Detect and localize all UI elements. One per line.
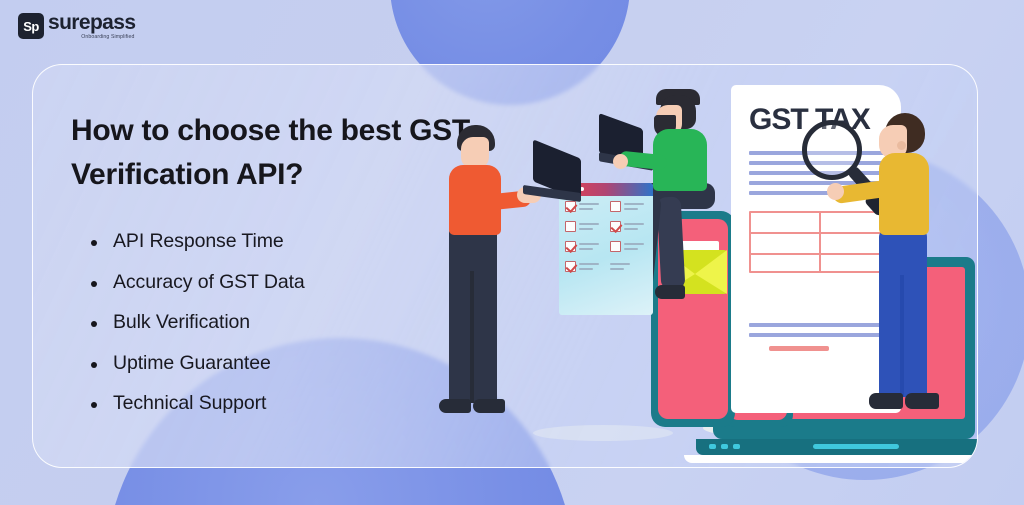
checklist-row xyxy=(565,201,649,212)
standing-man-shoe-front xyxy=(473,399,505,413)
document-text-line xyxy=(749,323,885,327)
checklist-cell xyxy=(610,201,649,212)
checklist-label-lines xyxy=(624,243,644,250)
checkbox-icon xyxy=(565,221,576,232)
list-item: API Response Time xyxy=(85,230,305,253)
surepass-logo-icon: Sp xyxy=(18,13,44,39)
brand-name: surepass xyxy=(48,12,135,33)
brand-tagline: Onboarding Simplified xyxy=(81,35,134,40)
checklist-row xyxy=(565,261,649,272)
checklist-cell xyxy=(565,201,604,212)
sitting-man-shoe-back xyxy=(655,285,685,299)
woman-shoe-back xyxy=(905,393,939,409)
laptop-lip xyxy=(684,455,978,463)
checklist-cell xyxy=(610,261,649,272)
document-highlight-line xyxy=(769,346,829,351)
checklist-label-lines xyxy=(579,243,599,250)
standing-man-shoe-back xyxy=(439,399,471,413)
checklist-cell xyxy=(610,221,649,232)
page-root: Sp surepass Onboarding Simplified How to… xyxy=(0,0,1024,505)
checklist-cell xyxy=(565,241,604,252)
checklist-label-lines xyxy=(624,223,644,230)
document-table-row-divider xyxy=(749,232,885,234)
list-item: Technical Support xyxy=(85,392,305,415)
checklist-rows xyxy=(565,201,649,281)
checklist-row xyxy=(565,241,649,252)
checklist-label-lines xyxy=(579,263,599,270)
list-item: Bulk Verification xyxy=(85,311,305,334)
laptop-dot xyxy=(709,444,716,449)
checklist-cell xyxy=(610,241,649,252)
envelope-flap-right xyxy=(695,250,727,294)
document-table-row-divider xyxy=(749,253,885,255)
checklist-label-lines xyxy=(579,203,599,210)
checklist-label-lines xyxy=(610,263,630,270)
checkbox-icon xyxy=(610,241,621,252)
feature-list: API Response Time Accuracy of GST Data B… xyxy=(85,230,305,433)
checklist-label-lines xyxy=(579,223,599,230)
checklist-cell xyxy=(565,261,604,272)
woman-leg-divider xyxy=(900,275,904,397)
magnifying-glass-icon xyxy=(802,120,862,180)
ground-shadow-secondary xyxy=(533,425,673,441)
woman-ear xyxy=(897,141,906,150)
laptop-indicator-dots xyxy=(709,444,740,449)
document-table xyxy=(749,211,885,273)
sitting-man-shin-back xyxy=(657,196,686,289)
checkbox-checked-icon xyxy=(565,261,576,272)
hero-illustration: GST TAX xyxy=(413,65,978,468)
document-text-line xyxy=(749,333,885,337)
checkbox-checked-icon xyxy=(610,221,621,232)
content-card: How to choose the best GST Verification … xyxy=(32,64,978,468)
document-text-line xyxy=(749,191,831,195)
checkbox-checked-icon xyxy=(565,201,576,212)
brand-logo[interactable]: Sp surepass Onboarding Simplified xyxy=(18,12,135,40)
checklist-cell xyxy=(565,221,604,232)
checkbox-checked-icon xyxy=(565,241,576,252)
woman-hand xyxy=(827,183,844,200)
checkbox-icon xyxy=(610,201,621,212)
brand-logo-text: surepass Onboarding Simplified xyxy=(48,12,135,40)
laptop-trackpad-bar xyxy=(813,444,899,449)
sitting-man-hand xyxy=(613,154,628,169)
checklist-label-lines xyxy=(624,203,644,210)
list-item: Uptime Guarantee xyxy=(85,352,305,375)
checklist-row xyxy=(565,221,649,232)
woman-shoe-front xyxy=(869,393,903,409)
document-table-column-divider xyxy=(819,211,821,273)
laptop-dot xyxy=(733,444,740,449)
standing-man-leg-divider xyxy=(470,271,474,403)
laptop-dot xyxy=(721,444,728,449)
list-item: Accuracy of GST Data xyxy=(85,271,305,294)
